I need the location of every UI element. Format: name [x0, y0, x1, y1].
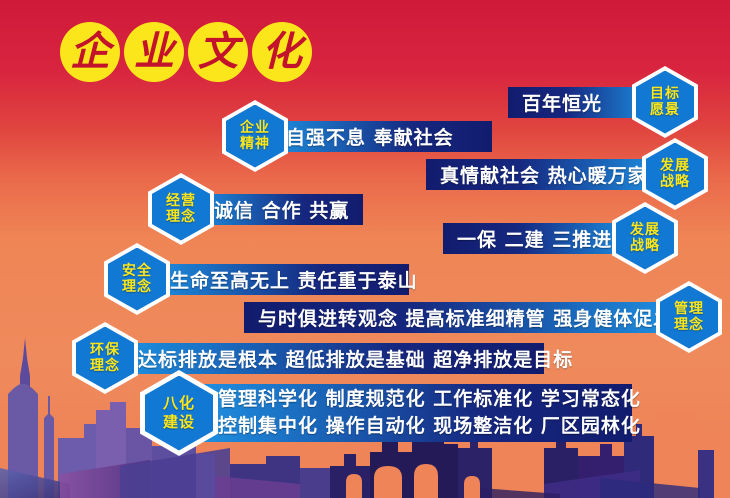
hex-eight-modernizations[interactable]: 八化 建设 — [140, 370, 218, 456]
hex-spirit[interactable]: 企业 精神 — [222, 100, 288, 172]
row-management-philosophy: 经营 理念 诚信 合作 共赢 — [148, 173, 363, 245]
title-char-3: 文 — [188, 22, 248, 82]
banner-environment: 达标排放是根本 超低排放是基础 超净排放是目标 — [112, 343, 544, 374]
hex-eight-modernizations-line2: 建设 — [163, 413, 195, 432]
banner-strategy-2-text: 一保 二建 三推进 — [457, 225, 612, 252]
title-char-2: 业 — [124, 22, 184, 82]
hex-management-line1: 管理 — [674, 301, 704, 317]
banner-eight-modernizations-line2: 控制集中化 操作自动化 现场整洁化 厂区园林化 — [218, 413, 641, 440]
banner-environment-text: 达标排放是根本 超低排放是基础 超净排放是目标 — [138, 345, 573, 372]
hex-management-philosophy-line1: 经营 — [166, 193, 196, 209]
banner-strategy-1-text: 真情献社会 热心暖万家 — [440, 161, 648, 188]
hex-management-philosophy-line2: 理念 — [166, 209, 196, 225]
hex-safety-line1: 安全 — [122, 263, 152, 279]
banner-eight-modernizations-line1: 管理科学化 制度规范化 工作标准化 学习常态化 — [218, 386, 641, 413]
hex-strategy-2-line1: 发展 — [630, 222, 660, 238]
hex-strategy-1[interactable]: 发展 战略 — [642, 138, 708, 210]
hex-vision-line2: 愿景 — [650, 102, 680, 118]
hex-management-line2: 理念 — [674, 317, 704, 333]
hex-vision-line1: 目标 — [650, 86, 680, 102]
hex-management[interactable]: 管理 理念 — [656, 281, 722, 353]
hex-strategy-1-line2: 战略 — [660, 174, 690, 190]
banner-management-philosophy-text: 诚信 合作 共赢 — [214, 196, 349, 223]
row-strategy-2: 一保 二建 三推进 发展 战略 — [443, 202, 678, 274]
hex-safety[interactable]: 安全 理念 — [104, 243, 170, 315]
title-char-1: 企 — [60, 22, 120, 82]
hex-vision[interactable]: 目标 愿景 — [632, 66, 698, 138]
hex-environment-line1: 环保 — [90, 342, 120, 358]
hex-eight-modernizations-line1: 八化 — [163, 394, 195, 413]
banner-strategy-2: 一保 二建 三推进 — [443, 223, 638, 254]
banner-strategy-1: 真情献社会 热心暖万家 — [426, 159, 668, 190]
corporate-culture-poster: 企 业 文 化 百年恒光 目标 愿景 企业 精神 自强不息 奉献社会 — [0, 0, 730, 498]
hex-environment[interactable]: 环保 理念 — [72, 322, 138, 394]
row-strategy-1: 真情献社会 热心暖万家 发展 战略 — [426, 138, 708, 210]
hex-environment-line2: 理念 — [90, 358, 120, 374]
hex-strategy-2-line2: 战略 — [630, 238, 660, 254]
row-vision: 百年恒光 目标 愿景 — [508, 66, 698, 138]
hex-strategy-1-line1: 发展 — [660, 158, 690, 174]
hex-management-philosophy[interactable]: 经营 理念 — [148, 173, 214, 245]
hex-spirit-line2: 精神 — [240, 136, 270, 152]
page-title: 企 业 文 化 — [60, 22, 312, 82]
hex-strategy-2[interactable]: 发展 战略 — [612, 202, 678, 274]
banner-vision-text: 百年恒光 — [522, 89, 602, 116]
hex-safety-line2: 理念 — [122, 279, 152, 295]
banner-eight-modernizations: 管理科学化 制度规范化 工作标准化 学习常态化 控制集中化 操作自动化 现场整洁… — [190, 384, 632, 442]
banner-management-philosophy: 诚信 合作 共赢 — [188, 194, 363, 225]
row-eight-modernizations: 八化 建设 管理科学化 制度规范化 工作标准化 学习常态化 控制集中化 操作自动… — [140, 370, 632, 456]
title-char-4: 化 — [252, 22, 312, 82]
hex-spirit-line1: 企业 — [240, 120, 270, 136]
